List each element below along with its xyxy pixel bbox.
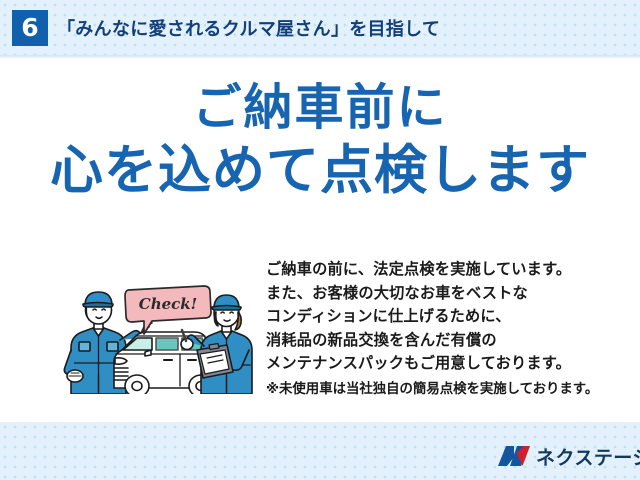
- headline-line-2: 心を込めて点検します: [0, 144, 640, 197]
- body-copy-line: コンディションに仕上げるために、: [266, 305, 626, 329]
- body-copy-line: また、お客様の大切なお車をベストな: [266, 282, 626, 306]
- brand-logo: ネクステージ: [497, 441, 640, 471]
- disclaimer-note: ※未使用車は当社独自の簡易点検を実施しております。: [266, 381, 636, 399]
- body-copy-line: メンテナンスパックもご用意しております。: [266, 352, 626, 376]
- headline-line-1: ご納車前に: [0, 83, 640, 132]
- brand-name: ネクステージ: [536, 443, 640, 470]
- header-title: 「みんなに愛されるクルマ屋さん」を目指して: [57, 15, 440, 41]
- step-number-badge: 6: [12, 10, 48, 46]
- nextage-n-mark-icon: [497, 444, 531, 468]
- body-copy-line: ご納車の前に、法定点検を実施しています。: [266, 258, 626, 282]
- headline: ご納車前に 心を込めて点検します: [0, 83, 640, 197]
- mechanics-inspection-illustration: Check!: [52, 266, 264, 394]
- header-divider: [0, 55, 640, 58]
- body-copy: ご納車の前に、法定点検を実施しています。 また、お客様の大切なお車をベストな コ…: [266, 258, 626, 376]
- clipboard-icon: [197, 344, 233, 379]
- advertisement-page: 6 「みんなに愛されるクルマ屋さん」を目指して ご納車前に 心を込めて点検します…: [0, 0, 640, 480]
- check-bubble-text: Check!: [139, 295, 198, 313]
- body-copy-line: 消耗品の新品交換を含んだ有償の: [266, 329, 626, 353]
